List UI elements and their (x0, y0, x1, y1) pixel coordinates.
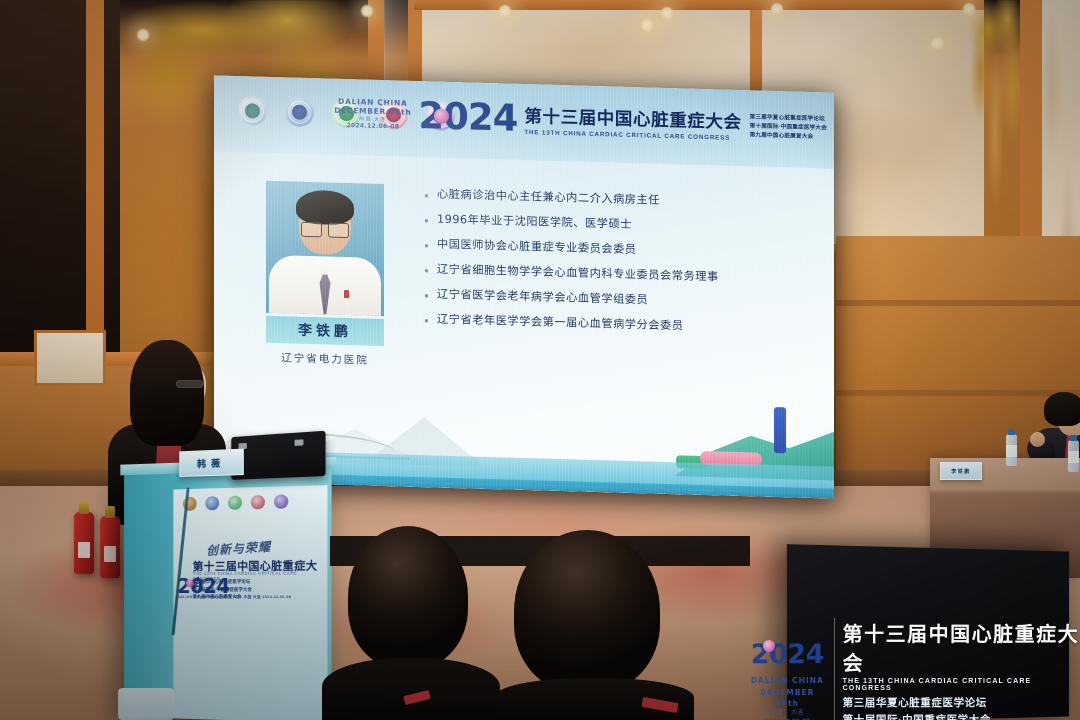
speaker-photo (266, 181, 384, 316)
watermark-year: 2024 (751, 635, 824, 676)
list-item: 辽宁省医学会老年病学会心血管学组委员 (425, 287, 820, 311)
podium-logo-4-icon (251, 495, 265, 509)
list-item: 辽宁省细胞生物学学会心血管内科专业委员会常务理事 (425, 262, 820, 286)
wainscot-trim-right (836, 300, 1080, 306)
podium-slogan: 创新与荣耀 (206, 538, 271, 559)
slide-subtitles: 第三届华夏心脏重症医学论坛 第十届国际·中国重症医学大会 第九届中国心脏康复大会 (750, 114, 827, 147)
ceiling-light-7 (770, 2, 784, 16)
slide-location-block: DALIAN CHINA DECEMBER 06th 中国·大连 2024.12… (334, 97, 411, 136)
ceiling-light-4 (498, 4, 512, 18)
presenter-glasses-icon (176, 380, 203, 388)
panelist-hand (1030, 432, 1045, 447)
panelist-hair (1044, 392, 1080, 426)
logo-chinese-medical-doctor-association-icon (238, 96, 267, 126)
list-item: 辽宁省老年医学学会第一届心血管病学分会委员 (425, 312, 820, 336)
bullet-icon (425, 319, 428, 322)
water-bottle-2 (1068, 440, 1079, 472)
slide-year: 2024 (418, 100, 517, 139)
speaker-affiliation: 辽宁省电力医院 (266, 350, 384, 368)
presenter-hair (130, 340, 204, 446)
ceiling-light-9 (962, 2, 976, 16)
podium-nameplate: 韩薇 (179, 449, 244, 477)
bio-text: 辽宁省细胞生物学学会心血管内科专业委员会常务理事 (437, 262, 719, 283)
bio-text: 中国医师协会心脏重症专业委员会委员 (437, 237, 637, 256)
fire-extinguisher-1 (74, 512, 94, 574)
podium-heart-icon (186, 579, 194, 587)
tower-shape (774, 407, 786, 453)
podium-graphic-panel: 创新与荣耀 第十三届中国心脏重症大会 THE 13TH CHINA CARDIA… (173, 485, 327, 720)
speaker-podium: 创新与荣耀 第十三届中国心脏重症大会 THE 13TH CHINA CARDIA… (124, 466, 332, 720)
bio-text: 1996年毕业于沈阳医学院、医学硕士 (437, 213, 632, 232)
speaker-bio-list: 心脏病诊治中心主任兼心内二介入病房主任 1996年毕业于沈阳医学院、医学硕士 中… (425, 187, 820, 348)
logo-blue-emblem-icon (285, 97, 314, 127)
water-bottle-1 (1006, 434, 1017, 466)
watermark-location-3: 中国 · 大连 (750, 709, 825, 717)
audience-shoulders (322, 658, 500, 720)
podium-organizer-logos (183, 494, 288, 511)
head-table-nameplate: 李铁鹏 (940, 462, 982, 480)
watermark-subtitle-1: 第三届华夏心脏重症医学论坛 (843, 695, 1080, 710)
ceiling-light-1 (136, 28, 150, 42)
bullet-icon (425, 194, 428, 197)
wall-artwork-left (34, 330, 106, 386)
list-item: 中国医师协会心脏重症专业委员会委员 (425, 237, 820, 261)
fire-extinguisher-2 (100, 516, 120, 578)
audience-shoulders (494, 678, 694, 720)
podium-location: DALIAN CHINA DECEMBER 06th 中国·大连 2024.12… (177, 594, 291, 601)
watermark-title-en: THE 13TH CHINA CARDIAC CRITICAL CARE CON… (843, 678, 1080, 692)
ceiling-light-2 (360, 4, 374, 18)
bullet-icon (425, 269, 428, 272)
watermark-heart-icon (763, 640, 775, 652)
watermark-subtitle-2: 第十届国际·中国重症医学大会 (843, 712, 1080, 720)
event-watermark: 2024 DALIAN CHINA DECEMBER 06th 中国 · 大连 … (750, 618, 1080, 720)
glasses-icon (301, 222, 349, 236)
watermark-title-cn: 第十三届中国心脏重症大会 (843, 618, 1080, 676)
podium-logo-5-icon (274, 494, 288, 509)
bio-text: 辽宁省老年医学学会第一届心血管病学分会委员 (437, 312, 684, 332)
ceiling-light-6 (660, 6, 674, 20)
list-item: 1996年毕业于沈阳医学院、医学硕士 (425, 212, 820, 236)
audience-head (514, 530, 660, 692)
speaker-card: 李铁鹏 辽宁省电力医院 (266, 181, 384, 368)
bullet-icon (425, 219, 428, 222)
podium-logo-2-icon (205, 496, 219, 510)
presenter-laptop[interactable] (231, 431, 325, 480)
podium-logo-3-icon (228, 496, 242, 510)
slide-subtitle-3: 第九届中国心脏康复大会 (750, 132, 827, 143)
speaker-name-box: 李铁鹏 (266, 316, 384, 346)
wall-frame-1 (86, 0, 104, 330)
speaker-name: 李铁鹏 (298, 323, 352, 341)
list-item: 心脏病诊治中心主任兼心内二介入病房主任 (425, 187, 820, 211)
slide-title-wrap: 第十三届中国心脏重症大会 THE 13TH CHINA CARDIAC CRIT… (524, 103, 741, 145)
bio-text: 辽宁省医学会老年病学会心血管学组委员 (437, 287, 648, 306)
audience-head (348, 526, 468, 668)
bullet-icon (425, 294, 428, 297)
screenshot-root: DALIAN CHINA DECEMBER 06th 中国·大连 2024.12… (0, 0, 1080, 720)
watermark-location-1: DALIAN CHINA (750, 675, 825, 686)
head-table-nameplate-text: 李铁鹏 (951, 468, 971, 475)
bio-text: 心脏病诊治中心主任兼心内二介入病房主任 (437, 188, 660, 208)
podium-nameplate-text: 韩薇 (197, 455, 225, 470)
slide-location-line4: 2024.12.06-08 (334, 122, 411, 132)
water-glass-foreground (118, 688, 174, 720)
bullet-icon (425, 244, 428, 247)
ceiling-light-5 (640, 18, 654, 32)
ceiling-light-8 (930, 36, 944, 50)
speaker-badge (344, 290, 349, 298)
watermark-location-2: DECEMBER 06th (750, 687, 825, 710)
speaker-hair (296, 190, 354, 226)
